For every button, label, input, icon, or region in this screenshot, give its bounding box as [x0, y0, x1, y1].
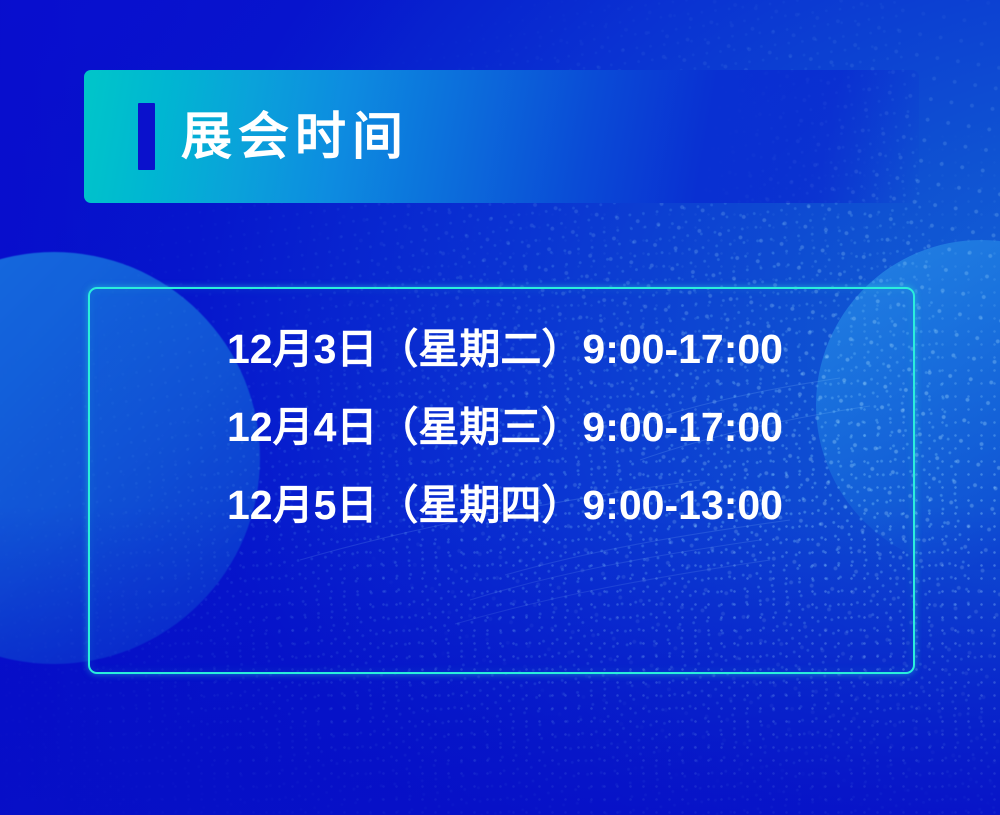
exhibition-time-poster: 展会时间 12月3日（星期二）9:00-17:00 12月4日（星期三）9:00… [0, 0, 1000, 815]
title-accent-bar [138, 103, 155, 170]
schedule-line: 12月3日（星期二）9:00-17:00 [227, 310, 847, 388]
schedule-list: 12月3日（星期二）9:00-17:00 12月4日（星期三）9:00-17:0… [227, 310, 847, 544]
schedule-line: 12月5日（星期四）9:00-13:00 [227, 466, 847, 544]
page-title: 展会时间 [181, 103, 409, 170]
schedule-line: 12月4日（星期三）9:00-17:00 [227, 388, 847, 466]
